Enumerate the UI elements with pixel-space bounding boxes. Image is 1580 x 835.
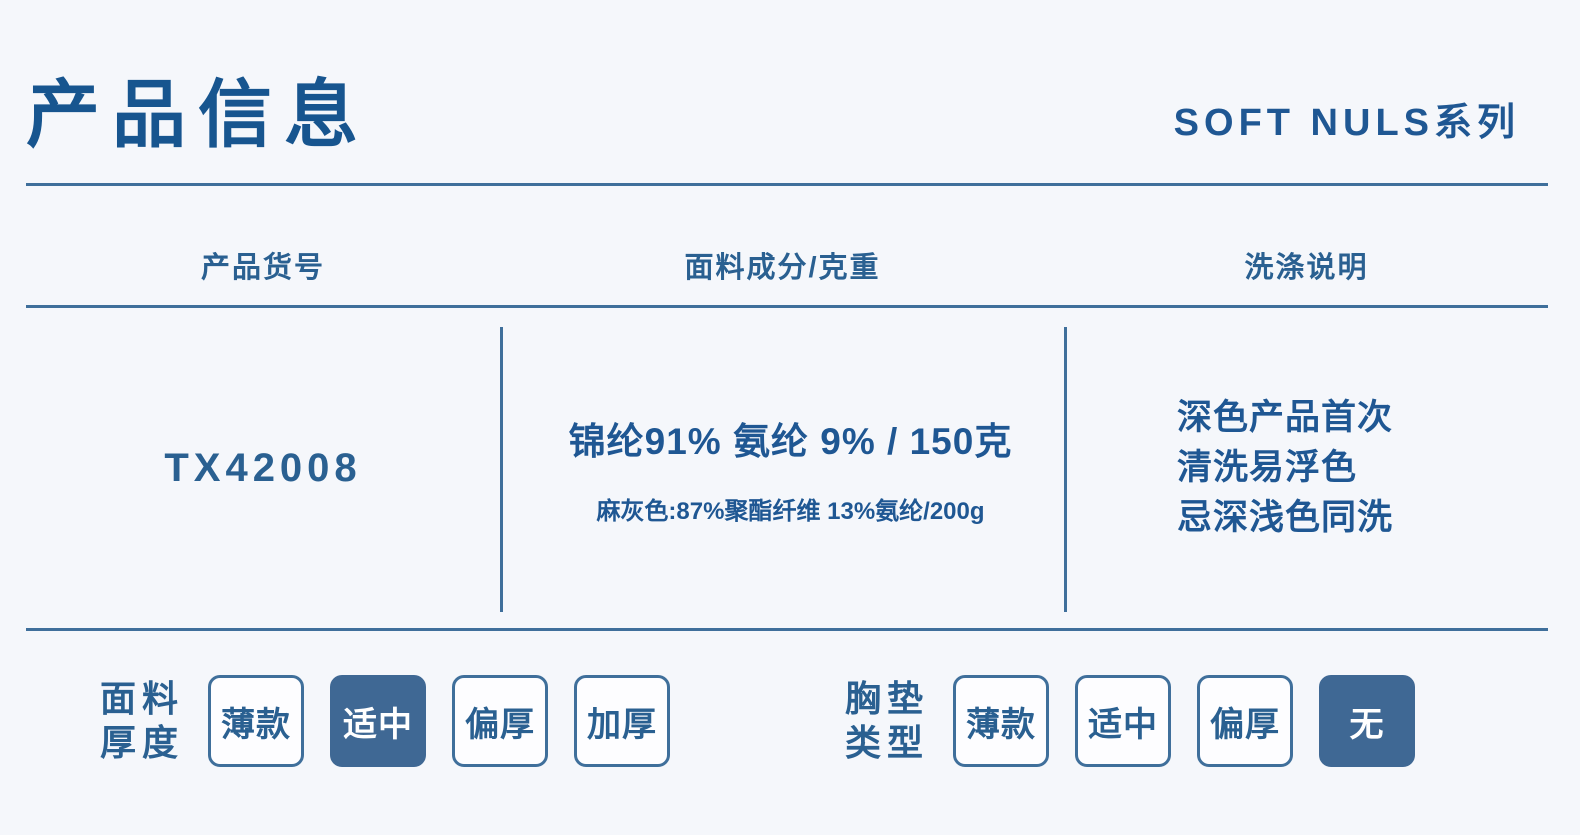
column-header-fabric-composition: 面料成分/克重 [500, 244, 1065, 286]
product-code-value: TX42008 [164, 446, 361, 491]
page-title: 产品信息 [26, 78, 370, 152]
cell-fabric-composition: 锦纶91% 氨纶 9% / 150克 麻灰色:87%聚酯纤维 13%氨纶/200… [503, 308, 1064, 628]
option-label-line-1: 面料 [100, 677, 184, 721]
divider-under-title [26, 183, 1548, 186]
series-name: SOFT NULS系列 [1174, 88, 1548, 142]
option-label-line-2: 类型 [845, 721, 929, 765]
chip-fabric-thickness-thick[interactable]: 加厚 [574, 675, 670, 767]
card-header: 产品信息 SOFT NULS系列 [26, 50, 1548, 180]
option-group-pad-type: 胸垫 类型 薄款 适中 偏厚 无 [845, 675, 1415, 767]
chip-fabric-thickness-medium[interactable]: 适中 [330, 675, 426, 767]
chip-pad-type-none[interactable]: 无 [1319, 675, 1415, 767]
option-label-line-1: 胸垫 [845, 677, 929, 721]
wash-care-line-1: 深色产品首次 [1177, 393, 1393, 443]
chip-pad-type-thickish[interactable]: 偏厚 [1197, 675, 1293, 767]
column-header-wash-care: 洗涤说明 [1065, 244, 1548, 286]
chip-fabric-thickness-thickish[interactable]: 偏厚 [452, 675, 548, 767]
wash-care-line-2: 清洗易浮色 [1177, 443, 1357, 493]
chip-list-pad-type: 薄款 适中 偏厚 无 [953, 675, 1415, 767]
wash-care-line-3: 忌深浅色同洗 [1177, 493, 1393, 543]
option-group-label-pad-type: 胸垫 类型 [845, 677, 929, 765]
options-section: 面料 厚度 薄款 适中 偏厚 加厚 胸垫 类型 薄款 适中 偏厚 无 [0, 655, 1580, 825]
chip-list-fabric-thickness: 薄款 适中 偏厚 加厚 [208, 675, 670, 767]
chip-pad-type-medium[interactable]: 适中 [1075, 675, 1171, 767]
divider-above-options [26, 628, 1548, 631]
cell-wash-care: 深色产品首次 清洗易浮色 忌深浅色同洗 [1067, 308, 1548, 628]
column-header-product-code: 产品货号 [26, 244, 500, 286]
chip-pad-type-thin[interactable]: 薄款 [953, 675, 1049, 767]
fabric-composition-sub: 麻灰色:87%聚酯纤维 13%氨纶/200g [596, 491, 984, 526]
option-label-line-2: 厚度 [100, 721, 184, 765]
fabric-composition-main: 锦纶91% 氨纶 9% / 150克 [569, 411, 1013, 465]
cell-product-code: TX42008 [26, 308, 500, 628]
option-group-fabric-thickness: 面料 厚度 薄款 适中 偏厚 加厚 [100, 675, 670, 767]
option-group-label-fabric-thickness: 面料 厚度 [100, 677, 184, 765]
product-info-card: 产品信息 SOFT NULS系列 产品货号 面料成分/克重 洗涤说明 TX420… [0, 0, 1580, 835]
table-column-headers: 产品货号 面料成分/克重 洗涤说明 [26, 228, 1548, 298]
chip-fabric-thickness-thin[interactable]: 薄款 [208, 675, 304, 767]
